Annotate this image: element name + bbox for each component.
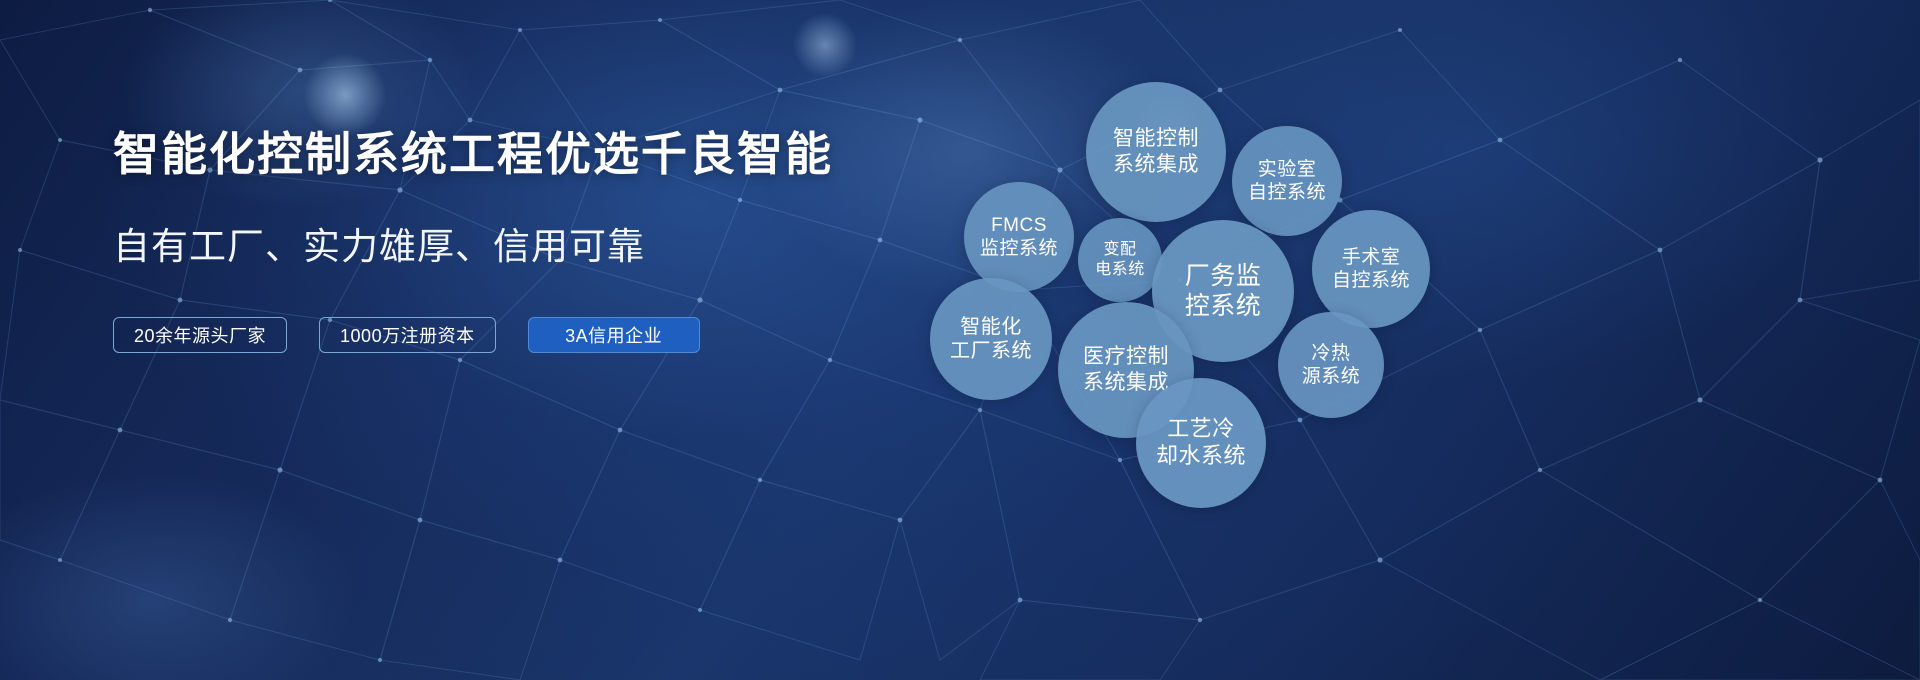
service-bubble[interactable]: 实验室自控系统 — [1232, 126, 1342, 236]
service-bubble-label-line: 自控系统 — [1332, 269, 1410, 292]
service-bubble-cluster: 智能控制系统集成实验室自控系统FMCS监控系统变配电系统手术室自控系统厂务监控系… — [930, 40, 1490, 550]
service-bubble[interactable]: 冷热源系统 — [1278, 312, 1384, 418]
page-title: 智能化控制系统工程优选千良智能 — [113, 128, 933, 181]
hero-banner: 智能化控制系统工程优选千良智能 自有工厂、实力雄厚、信用可靠 20余年源头厂家 … — [0, 0, 1920, 680]
badge-years[interactable]: 20余年源头厂家 — [113, 317, 287, 353]
service-bubble-label-line: FMCS — [991, 214, 1047, 237]
service-bubble-label-line: 变配 — [1103, 240, 1136, 260]
service-bubble-label-line: 自控系统 — [1248, 181, 1326, 204]
service-bubble-label-line: 冷热 — [1311, 342, 1350, 365]
service-bubble-label-line: 监控系统 — [980, 237, 1058, 260]
service-bubble-label-line: 智能控制 — [1113, 126, 1199, 152]
hero-subtitle: 自有工厂、实力雄厚、信用可靠 — [113, 225, 933, 269]
service-bubble[interactable]: 变配电系统 — [1078, 218, 1162, 302]
service-bubble[interactable]: 智能化工厂系统 — [930, 278, 1052, 400]
service-bubble-label-line: 实验室 — [1258, 158, 1317, 181]
service-bubble-label-line: 电系统 — [1095, 260, 1145, 280]
service-bubble-label-line: 系统集成 — [1113, 152, 1199, 178]
badge-capital[interactable]: 1000万注册资本 — [319, 317, 496, 353]
service-bubble[interactable]: 手术室自控系统 — [1312, 210, 1430, 328]
service-bubble[interactable]: FMCS监控系统 — [964, 182, 1074, 292]
badge-list: 20余年源头厂家 1000万注册资本 3A信用企业 — [113, 317, 933, 353]
service-bubble[interactable]: 工艺冷却水系统 — [1136, 378, 1266, 508]
service-bubble[interactable]: 智能控制系统集成 — [1086, 82, 1226, 222]
service-bubble-label-line: 却水系统 — [1156, 443, 1246, 470]
service-bubble-label-line: 源系统 — [1302, 365, 1361, 388]
service-bubble-label-line: 智能化 — [960, 315, 1022, 339]
service-bubble-label-line: 工厂系统 — [950, 339, 1032, 363]
badge-credit[interactable]: 3A信用企业 — [528, 317, 700, 353]
service-bubble-label-line: 医疗控制 — [1083, 344, 1169, 370]
service-bubble-label-line: 手术室 — [1342, 246, 1401, 269]
service-bubble-label-line: 控系统 — [1185, 291, 1262, 322]
service-bubble-label-line: 工艺冷 — [1167, 416, 1235, 443]
hero-copy: 智能化控制系统工程优选千良智能 自有工厂、实力雄厚、信用可靠 20余年源头厂家 … — [113, 128, 933, 353]
service-bubble-label-line: 厂务监 — [1185, 261, 1262, 292]
service-bubble-label-line: 系统集成 — [1083, 370, 1169, 396]
